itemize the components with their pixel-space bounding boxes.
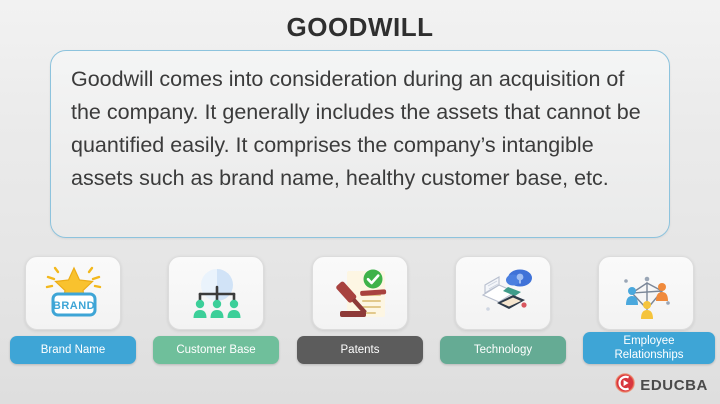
card-label-line1: Employee [623,335,674,347]
educba-swirl-icon [615,373,635,398]
card-technology[interactable] [455,256,551,330]
card-label-text: Technology [474,344,532,356]
card-label-technology[interactable]: Technology [440,336,566,364]
card-label-text: Brand Name [41,344,106,356]
description-text: Goodwill comes into consideration during… [71,63,651,195]
brand-badge-star-icon: BRAND [26,261,122,327]
card-label-text: Patents [341,344,380,356]
card-label-text: Employee Relationships [614,334,683,362]
card-label-brand-name[interactable]: Brand Name [10,336,136,364]
org-chart-people-icon [169,261,265,327]
laptop-cloud-icon [456,261,552,327]
card-employee-relationships[interactable] [598,256,694,330]
card-label-patents[interactable]: Patents [297,336,423,364]
educba-logo-text: EDUCBA [640,377,708,394]
card-brand-name[interactable]: BRAND [25,256,121,330]
card-label-employee-relationships[interactable]: Employee Relationships [583,332,715,364]
card-label-text: Customer Base [176,344,255,356]
slide-canvas: GOODWILL Goodwill comes into considerati… [0,0,720,404]
card-customer-base[interactable] [168,256,264,330]
card-patents[interactable] [312,256,408,330]
card-label-customer-base[interactable]: Customer Base [153,336,279,364]
page-title: GOODWILL [0,12,720,43]
gavel-document-check-icon [313,261,409,327]
educba-logo[interactable]: EDUCBA [615,373,708,398]
card-label-line2: Relationships [614,349,683,361]
goodwill-component-cards: BRAND Brand Name [0,256,720,368]
svg-text:BRAND: BRAND [53,300,95,312]
description-callout: Goodwill comes into consideration during… [50,50,670,238]
people-network-icon [599,261,695,327]
